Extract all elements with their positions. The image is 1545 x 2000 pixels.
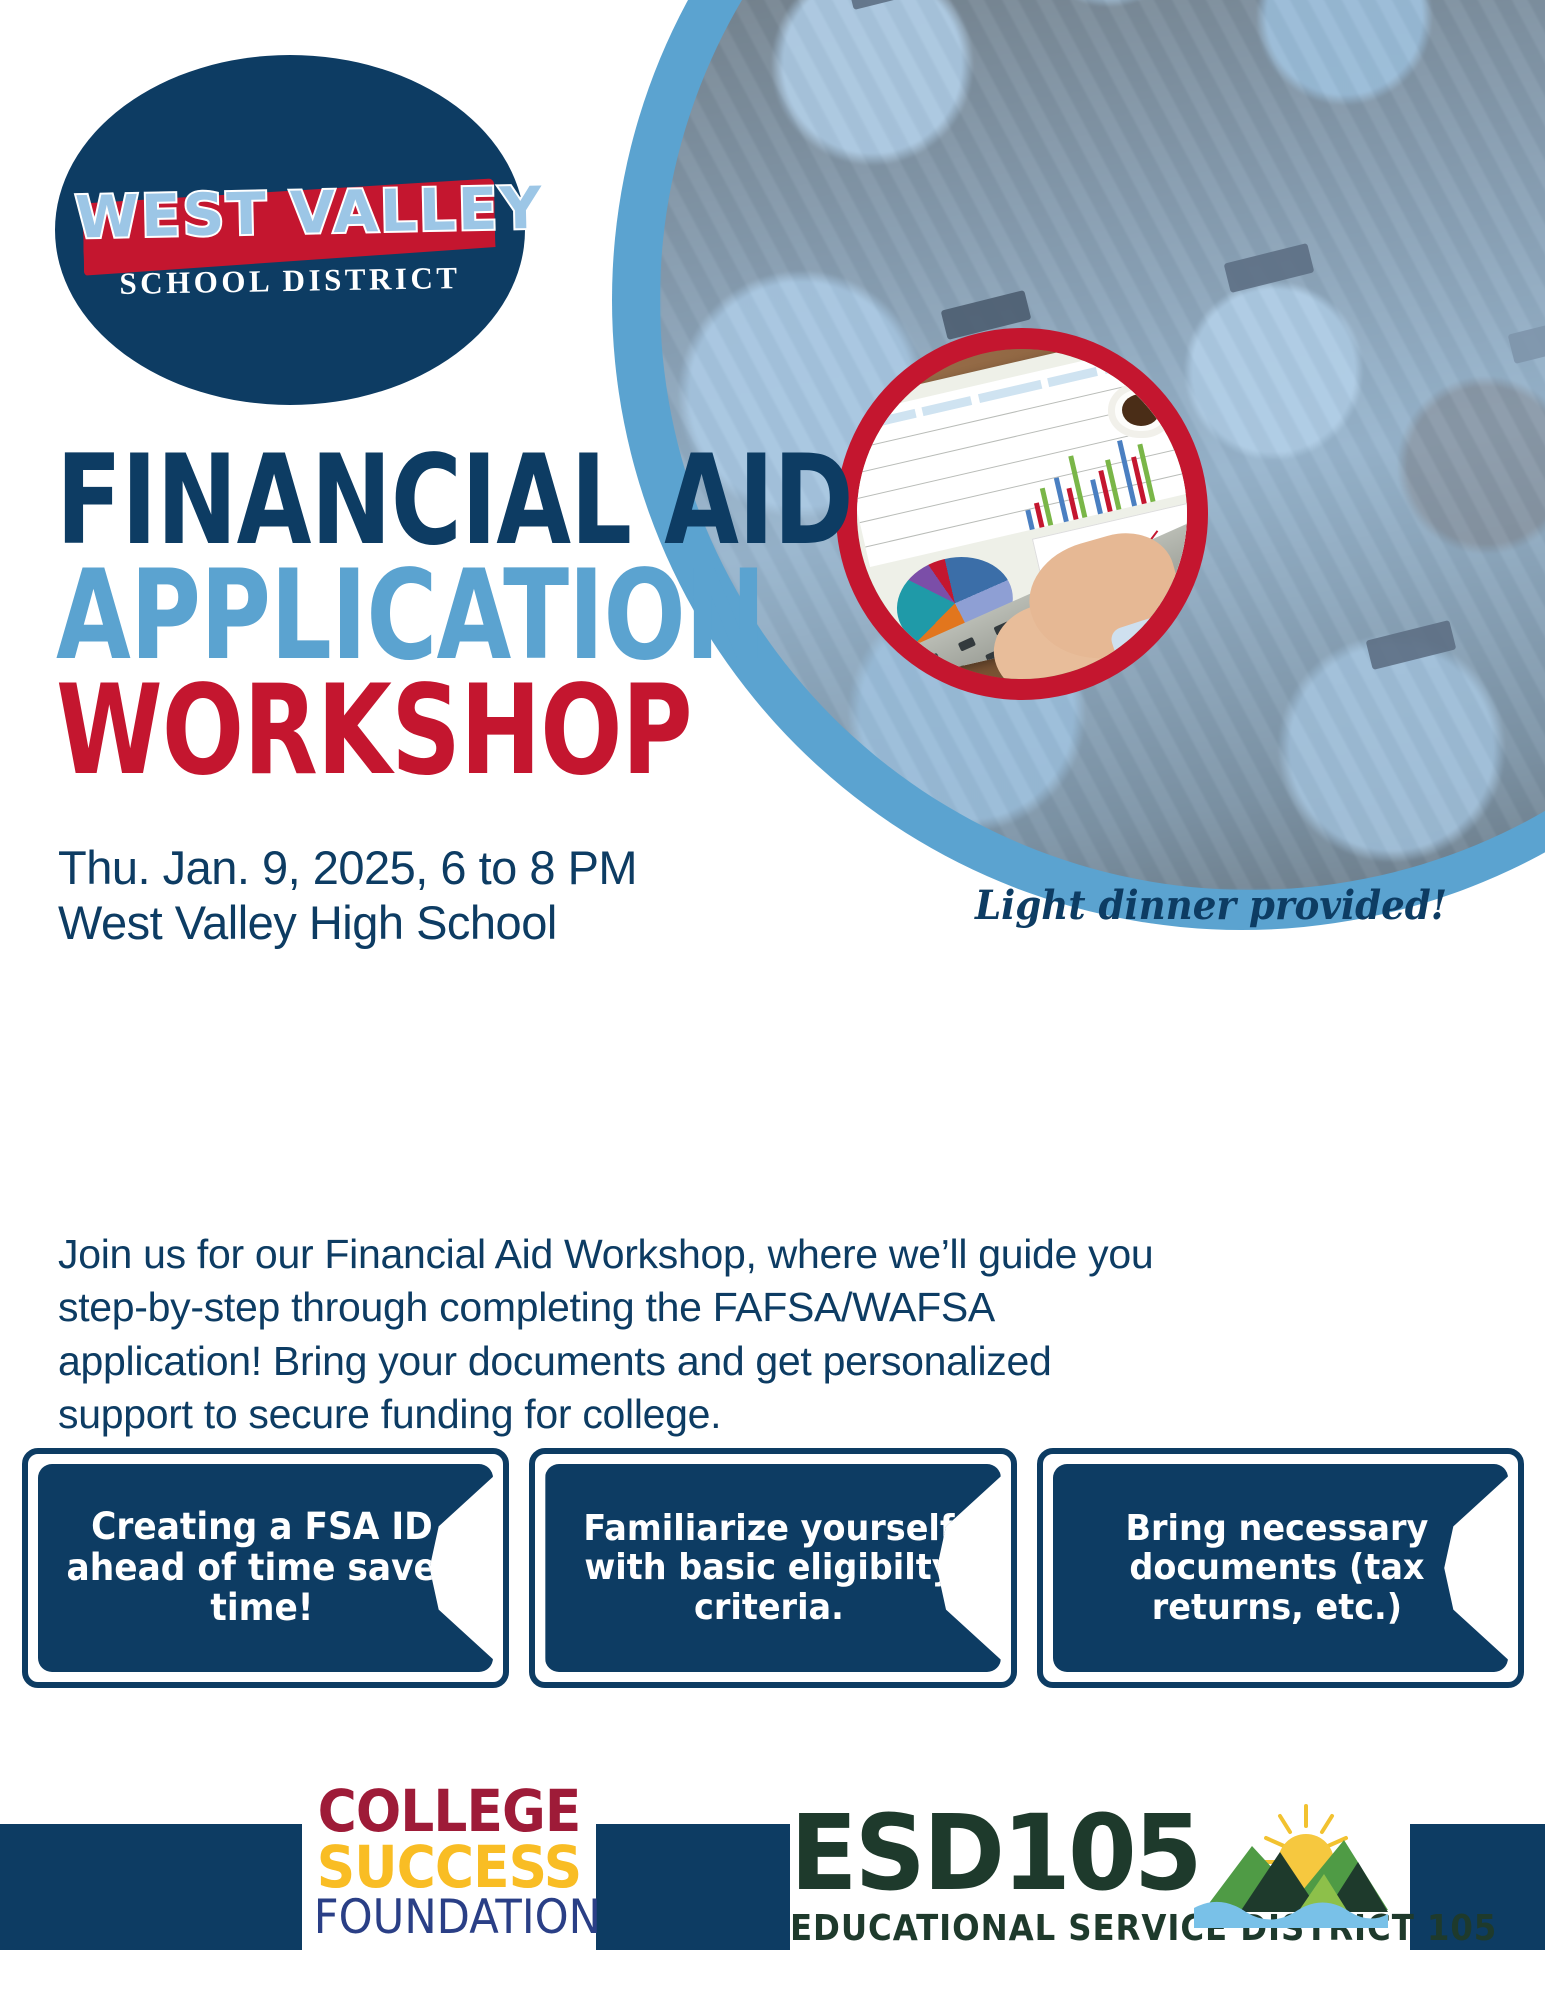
csf-line-success: SUCCESS bbox=[314, 1840, 584, 1896]
description-line-4: support to secure funding for college. bbox=[58, 1388, 1453, 1441]
tip-ribbon: Familiarize yourself with basic eligibil… bbox=[545, 1464, 1000, 1672]
logo-wordmark-top: WEST VALLEY bbox=[74, 175, 505, 252]
coffee-cup-graphic bbox=[1108, 382, 1174, 438]
footer: COLLEGE SUCCESS FOUNDATION ESD105 EDUCAT… bbox=[0, 1824, 1545, 2000]
tips-row: Creating a FSA ID ahead of time saves ti… bbox=[22, 1448, 1524, 1688]
csf-line-college: COLLEGE bbox=[314, 1784, 584, 1840]
tip-card: Familiarize yourself with basic eligibil… bbox=[529, 1448, 1016, 1688]
dinner-note: Light dinner provided! bbox=[975, 882, 1447, 929]
esd-wordmark: ESD105 bbox=[790, 1806, 1200, 1902]
esd105-logo: ESD105 EDUCATIONAL SERVICE DISTRICT 105 bbox=[790, 1806, 1410, 1949]
event-details: Thu. Jan. 9, 2025, 6 to 8 PM West Valley… bbox=[58, 840, 637, 951]
page-title: FINANCIAL AID APPLICATION WORKSHOP bbox=[56, 452, 816, 782]
tip-ribbon: Creating a FSA ID ahead of time saves ti… bbox=[38, 1464, 493, 1672]
description-paragraph: Join us for our Financial Aid Workshop, … bbox=[58, 1228, 1453, 1441]
west-valley-district-logo: WEST VALLEY SCHOOL DISTRICT bbox=[55, 55, 525, 405]
headline-line-1: FINANCIAL AID bbox=[56, 452, 649, 551]
sun-mountain-icon bbox=[1148, 1800, 1388, 1928]
csf-line-foundation: FOUNDATION bbox=[314, 1895, 584, 1940]
tip-text: Creating a FSA ID ahead of time saves ti… bbox=[54, 1507, 477, 1629]
tip-text: Bring necessary documents (tax returns, … bbox=[1069, 1509, 1492, 1628]
description-line-2: step-by-step through completing the FAFS… bbox=[58, 1281, 1453, 1334]
event-date-time: Thu. Jan. 9, 2025, 6 to 8 PM bbox=[58, 840, 637, 895]
tip-card: Bring necessary documents (tax returns, … bbox=[1037, 1448, 1524, 1688]
tip-ribbon: Bring necessary documents (tax returns, … bbox=[1053, 1464, 1508, 1672]
description-line-1: Join us for our Financial Aid Workshop, … bbox=[58, 1228, 1453, 1281]
event-location: West Valley High School bbox=[58, 895, 637, 950]
headline-line-2: APPLICATION bbox=[56, 567, 649, 666]
tip-text: Familiarize yourself with basic eligibil… bbox=[561, 1509, 984, 1628]
logo-wordmark-sub: SCHOOL DISTRICT bbox=[75, 259, 506, 302]
college-success-foundation-logo: COLLEGE SUCCESS FOUNDATION bbox=[302, 1784, 596, 1940]
headline-line-3: WORKSHOP bbox=[56, 682, 649, 781]
laptop-photo: hands typing on a laptop showing spreads… bbox=[857, 349, 1187, 679]
description-line-3: application! Bring your documents and ge… bbox=[58, 1335, 1453, 1388]
tip-card: Creating a FSA ID ahead of time saves ti… bbox=[22, 1448, 509, 1688]
